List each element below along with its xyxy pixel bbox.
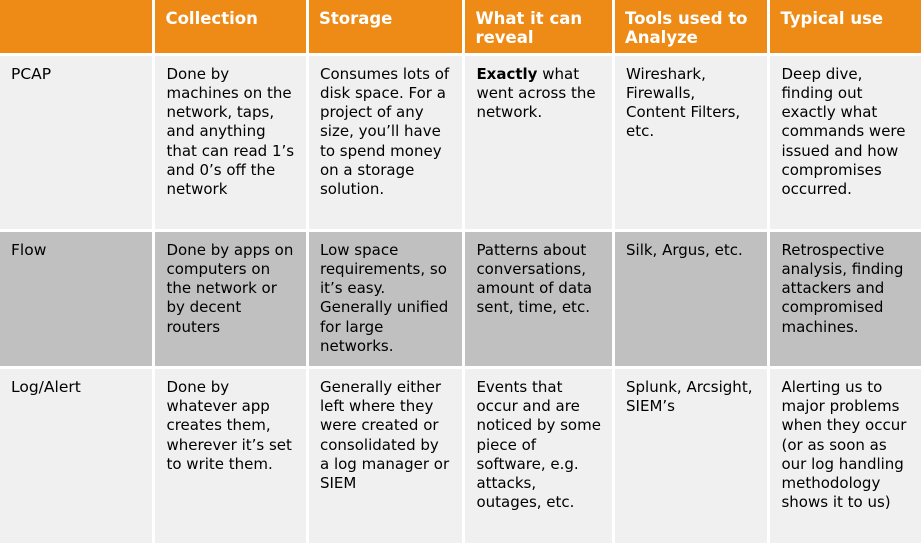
cell-flow-collection: Done by apps on computers on the network… (155, 232, 306, 366)
header-cell-what-it-can-reveal: What it can reveal (465, 0, 612, 53)
row-label-flow: Flow (0, 232, 152, 366)
table-row: Log/Alert Done by whatever app creates t… (0, 369, 921, 543)
cell-pcap-storage: Consumes lots of disk space. For a proje… (309, 56, 462, 229)
table-row: Flow Done by apps on computers on the ne… (0, 232, 921, 366)
cell-pcap-tools: Wireshark, Firewalls, Content Filters, e… (615, 56, 767, 229)
cell-pcap-collection: Done by machines on the network, taps, a… (155, 56, 306, 229)
header-cell-typical-use: Typical use (770, 0, 921, 53)
header-cell-collection: Collection (155, 0, 306, 53)
cell-log-collection: Done by whatever app creates them, where… (155, 369, 306, 543)
cell-flow-storage: Low space requirements, so it’s easy. Ge… (309, 232, 462, 366)
row-label-pcap: PCAP (0, 56, 152, 229)
comparison-table: Collection Storage What it can reveal To… (0, 0, 921, 543)
cell-log-storage: Generally either left where they were cr… (309, 369, 462, 543)
cell-pcap-reveal-emphasis: Exactly (476, 65, 537, 83)
cell-flow-tools: Silk, Argus, etc. (615, 232, 767, 366)
header-cell-corner (0, 0, 152, 53)
cell-log-tools: Splunk, Arcsight, SIEM’s (615, 369, 767, 543)
cell-log-typical-use: Alerting us to major problems when they … (770, 369, 921, 543)
cell-pcap-typical-use: Deep dive, finding out exactly what comm… (770, 56, 921, 229)
cell-flow-typical-use: Retrospective analysis, finding attacker… (770, 232, 921, 366)
table-row: PCAP Done by machines on the network, ta… (0, 56, 921, 229)
cell-log-reveal: Events that occur and are noticed by som… (465, 369, 612, 543)
cell-pcap-reveal: Exactly what went across the network. (465, 56, 612, 229)
cell-flow-reveal-text: Patterns about conversations, amount of … (476, 241, 592, 317)
row-label-log-alert: Log/Alert (0, 369, 152, 543)
cell-flow-reveal: Patterns about conversations, amount of … (465, 232, 612, 366)
cell-log-reveal-text: Events that occur and are noticed by som… (476, 378, 601, 511)
header-cell-storage: Storage (309, 0, 462, 53)
table-header-row: Collection Storage What it can reveal To… (0, 0, 921, 53)
header-cell-tools-used-to-analyze: Tools used to Analyze (615, 0, 767, 53)
